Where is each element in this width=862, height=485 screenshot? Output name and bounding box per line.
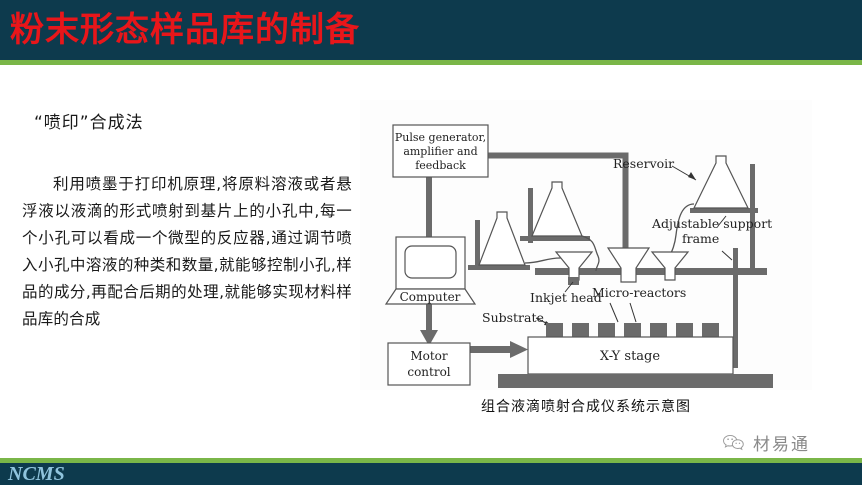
figure-label-adjustable-support-1: Adjustable support xyxy=(651,216,772,231)
section-subheading: “喷印”合成法 xyxy=(34,108,352,133)
figure-label-micro-reactors: Micro-reactors xyxy=(592,285,686,300)
figure-label-motor-control-1: Motor xyxy=(410,349,448,363)
figure-label-inkjet-head: Inkjet head xyxy=(530,290,602,305)
figure-label-substrate: Substrate xyxy=(482,310,544,325)
figure-caption: 组合液滴喷射合成仪系统示意图 xyxy=(360,396,812,416)
figure-label-reservoir: Reservoir xyxy=(613,156,674,171)
content-text-column: “喷印”合成法 利用喷墨于打印机原理,将原料溶液或者悬浮液以液滴的形式喷射到基片… xyxy=(22,108,352,333)
slide-footer-band xyxy=(0,463,862,485)
wechat-account-name: 材易通 xyxy=(753,430,810,455)
figure-label-pulse-generator-1: Pulse generator, xyxy=(395,131,486,144)
figure-label-xy-stage: X-Y stage xyxy=(600,349,660,364)
figure-label-adjustable-support-2: frame xyxy=(682,231,719,246)
figure-label-motor-control-2: control xyxy=(407,365,450,379)
figure-label-pulse-generator-2: amplifier and xyxy=(403,145,477,158)
header-accent-line xyxy=(0,60,862,65)
figure-label-pulse-generator-3: feedback xyxy=(415,159,466,172)
page-title: 粉末形态样品库的制备 xyxy=(10,8,360,52)
figure-label-computer: Computer xyxy=(400,290,461,304)
body-paragraph: 利用喷墨于打印机原理,将原料溶液或者悬浮液以液滴的形式喷射到基片上的小孔中,每一… xyxy=(22,171,352,333)
wechat-account-badge: 材易通 xyxy=(722,430,810,455)
slide-canvas: 粉末形态样品库的制备 “喷印”合成法 利用喷墨于打印机原理,将原料溶液或者悬浮液… xyxy=(0,0,862,485)
wechat-icon xyxy=(722,433,746,453)
figure-image: Pulse generator, amplifier and feedback … xyxy=(360,100,812,390)
ncms-logo: NCMS xyxy=(8,463,65,485)
